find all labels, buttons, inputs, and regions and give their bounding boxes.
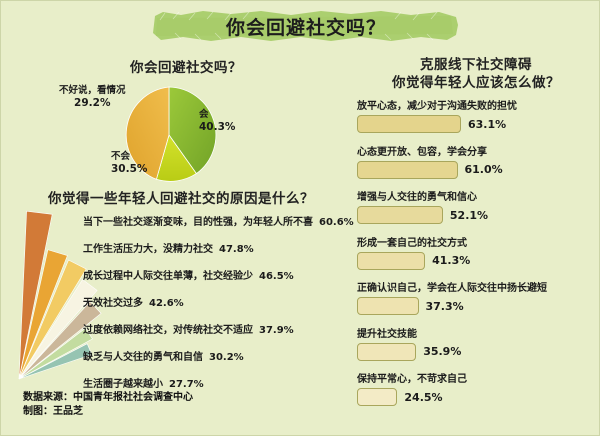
reason-row: 缺乏与人交往的勇气和自信30.2% <box>83 348 244 363</box>
advice-bar-item: 放平心态，减少对于沟通失败的担忧63.1% <box>357 97 517 133</box>
advice-bar-label: 增强与人交往的勇气和信心 <box>357 188 488 203</box>
advice-bar-item: 增强与人交往的勇气和信心52.1% <box>357 188 488 224</box>
reason-row: 当下一些社交逐渐变味，目的性强，为年轻人所不喜60.6% <box>83 213 354 228</box>
advice-bar-label: 放平心态，减少对于沟通失败的担忧 <box>357 97 517 112</box>
advice-bar-label: 正确认识自己，学会在人际交往中扬长避短 <box>357 279 547 294</box>
advice-bar-label: 心态更开放、包容，学会分享 <box>357 143 503 158</box>
pie-label-depends-pct: 29.2% <box>59 97 126 109</box>
advice-bar-fill <box>357 161 458 179</box>
reason-row: 过度依赖网络社交，对传统社交不适应37.9% <box>83 321 294 336</box>
reason-value: 46.5% <box>259 271 294 282</box>
reason-row: 工作生活压力大，没精力社交47.8% <box>83 240 254 255</box>
pie-section-heading: 你会回避社交吗？ <box>61 56 311 76</box>
advice-bar-line: 41.3% <box>357 252 470 270</box>
advice-bar-fill <box>357 297 419 315</box>
advice-bar-item: 形成一套自己的社交方式41.3% <box>357 234 470 270</box>
advice-bar-item: 心态更开放、包容，学会分享61.0% <box>357 143 503 179</box>
pie-label-yes-pct: 40.3% <box>199 121 235 133</box>
footer-credit: 制图：王品芝 <box>23 405 443 419</box>
advice-section-heading-line1: 克服线下社交障碍 <box>356 53 596 73</box>
reason-value: 27.7% <box>169 379 204 390</box>
reason-value: 42.6% <box>149 298 184 309</box>
reason-label: 缺乏与人交往的勇气和自信 <box>83 352 203 363</box>
advice-bar-label: 提升社交技能 <box>357 325 461 340</box>
advice-section-heading-line2: 你觉得年轻人应该怎么做？ <box>356 71 596 91</box>
advice-bar-line: 52.1% <box>357 206 488 224</box>
advice-bar-value: 37.3% <box>426 300 464 313</box>
reason-value: 37.9% <box>259 325 294 336</box>
reason-label: 生活圈子越来越小 <box>83 379 163 390</box>
advice-bar-value: 63.1% <box>468 118 506 131</box>
advice-bar-label: 形成一套自己的社交方式 <box>357 234 470 249</box>
reason-label: 无效社交过多 <box>83 298 143 309</box>
advice-bar-fill <box>357 343 416 361</box>
advice-bar-value: 52.1% <box>450 209 488 222</box>
pie-label-yes: 会 40.3% <box>199 109 235 133</box>
reason-row: 成长过程中人际交往单薄，社交经验少46.5% <box>83 267 294 282</box>
reason-label: 工作生活压力大，没精力社交 <box>83 244 213 255</box>
advice-bar-item: 正确认识自己，学会在人际交往中扬长避短37.3% <box>357 279 547 315</box>
pie-label-no-name: 不会 <box>111 151 130 162</box>
advice-bar-fill <box>357 252 425 270</box>
pie-label-depends: 不好说，看情况 29.2% <box>59 85 126 109</box>
advice-bar-fill <box>357 206 443 224</box>
infographic-frame: 你会回避社交吗？ 你会回避社交吗？ 会 <box>0 0 600 436</box>
advice-bar-line: 63.1% <box>357 115 517 133</box>
advice-bar-line: 35.9% <box>357 343 461 361</box>
reason-value: 47.8% <box>219 244 254 255</box>
reason-label: 过度依赖网络社交，对传统社交不适应 <box>83 325 253 336</box>
advice-bar-item: 提升社交技能35.9% <box>357 325 461 361</box>
page-title: 你会回避社交吗？ <box>151 9 461 43</box>
reason-row: 无效社交过多42.6% <box>83 294 184 309</box>
advice-bar-value: 35.9% <box>423 345 461 358</box>
reason-value: 30.2% <box>209 352 244 363</box>
advice-bar-value: 61.0% <box>465 163 503 176</box>
pie-label-no-pct: 30.5% <box>111 163 147 175</box>
advice-bar-line: 37.3% <box>357 297 547 315</box>
pie-label-depends-name: 不好说，看情况 <box>59 85 126 96</box>
title-banner: 你会回避社交吗？ <box>151 9 461 43</box>
advice-bar-value: 41.3% <box>432 254 470 267</box>
footer: 数据来源：中国青年报社社会调查中心 制图：王品芝 <box>23 391 443 419</box>
pie-label-no: 不会 30.5% <box>111 151 147 175</box>
advice-bar-line: 61.0% <box>357 161 503 179</box>
reason-row: 生活圈子越来越小27.7% <box>83 375 204 390</box>
reason-label: 成长过程中人际交往单薄，社交经验少 <box>83 271 253 282</box>
pie-label-yes-name: 会 <box>199 109 209 120</box>
footer-source: 数据来源：中国青年报社社会调查中心 <box>23 391 443 405</box>
advice-bar-fill <box>357 115 461 133</box>
reason-value: 60.6% <box>319 217 354 228</box>
advice-bar-label: 保持平常心，不苛求自己 <box>357 370 467 385</box>
reason-label: 当下一些社交逐渐变味，目的性强，为年轻人所不喜 <box>83 217 313 228</box>
